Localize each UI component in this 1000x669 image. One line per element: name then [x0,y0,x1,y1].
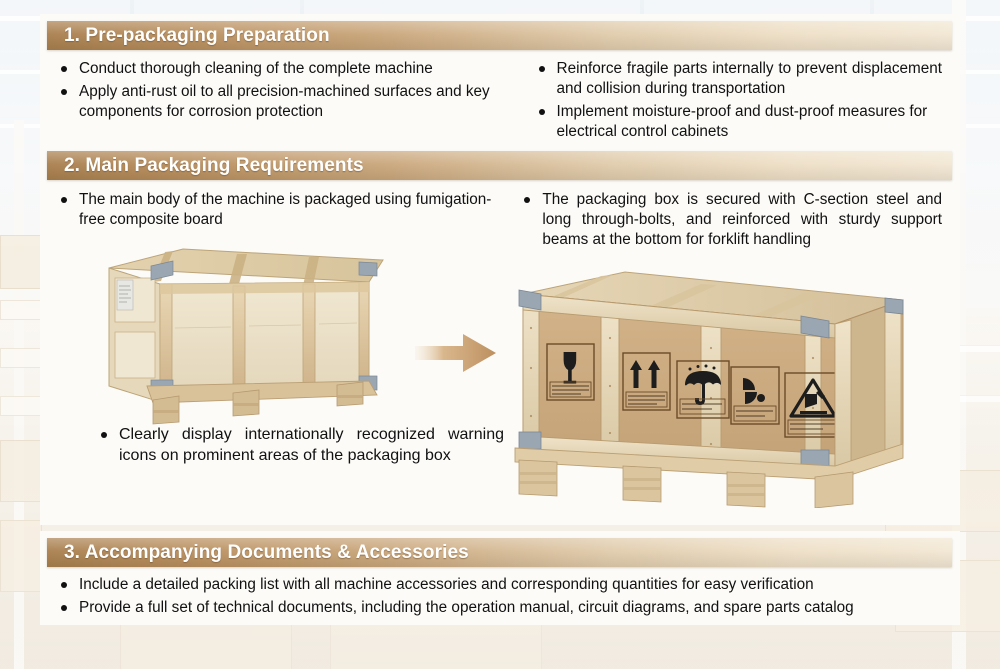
labelled-wooden-crate-image [505,268,905,508]
section-header-1: 1. Pre-packaging Preparation [47,21,952,50]
list-item: The main body of the machine is packaged… [54,190,503,230]
list-item: Provide a full set of technical document… [54,598,942,618]
section-title-2: 2. Main Packaging Requirements [47,155,364,177]
section-1-column-left: Conduct thorough cleaning of the complet… [54,59,516,145]
bullet-list: Reinforce fragile parts internally to pr… [532,59,942,142]
bullet-list: Clearly display internationally recogniz… [94,425,504,467]
section-panel-1: 1. Pre-packaging Preparation Conduct tho… [40,14,960,144]
section-panel-3: 3. Accompanying Documents & Accessories … [40,531,960,625]
section-title-3: 3. Accompanying Documents & Accessories [47,542,469,564]
bullet-list: Include a detailed packing list with all… [54,575,942,618]
section-3-body: Include a detailed packing list with all… [40,567,960,618]
section-header-2: 2. Main Packaging Requirements [47,151,952,180]
list-item: Reinforce fragile parts internally to pr… [532,59,942,99]
list-item: Implement moisture-proof and dust-proof … [532,102,942,142]
bullet-list: The packaging box is secured with C-sect… [517,190,942,250]
section-2-column-right: The packaging box is secured with C-sect… [517,190,942,253]
section-1-column-right: Reinforce fragile parts internally to pr… [532,59,942,145]
bullet-list: Conduct thorough cleaning of the complet… [54,59,516,122]
process-arrow-icon [413,330,498,376]
list-item: Apply anti-rust oil to all precision-mac… [54,82,516,122]
plain-wooden-crate-image [87,240,387,425]
section-header-3: 3. Accompanying Documents & Accessories [47,538,952,567]
list-item: Clearly display internationally recogniz… [94,425,504,467]
list-item: Include a detailed packing list with all… [54,575,942,595]
section-2-caption-left: Clearly display internationally recogniz… [94,425,504,470]
section-1-columns: Conduct thorough cleaning of the complet… [40,50,960,145]
list-item: The packaging box is secured with C-sect… [517,190,942,250]
section-title-1: 1. Pre-packaging Preparation [47,25,330,47]
bullet-list: The main body of the machine is packaged… [54,190,503,230]
list-item: Conduct thorough cleaning of the complet… [54,59,516,79]
